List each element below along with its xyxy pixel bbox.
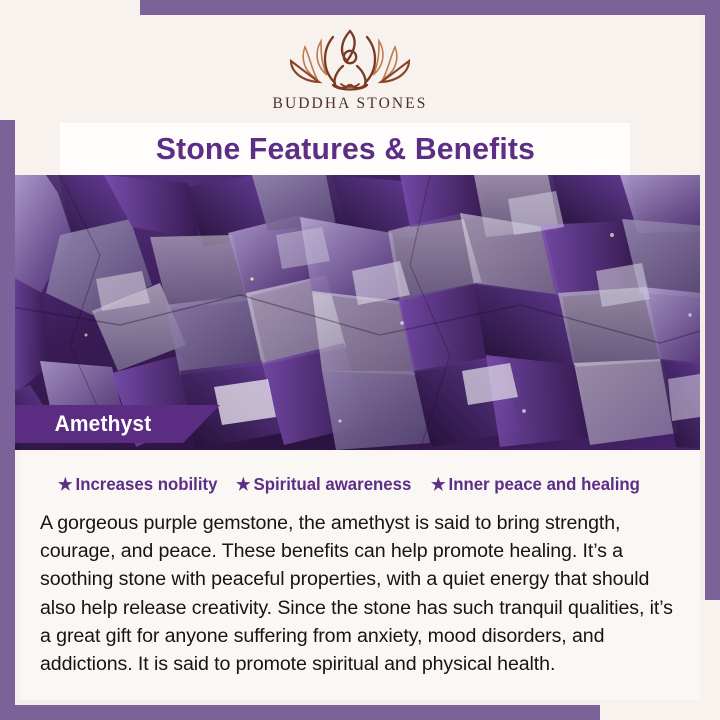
benefit-item-2: ★ Spiritual awareness	[236, 474, 411, 495]
benefit-label-2: Spiritual awareness	[254, 474, 412, 495]
frame-top-bar	[140, 0, 720, 15]
brand-name: BUDDHA STONES	[273, 95, 428, 113]
frame-bottom-bar	[0, 705, 600, 720]
benefit-label-1: Increases nobility	[76, 474, 218, 495]
section-title-bar: Stone Features & Benefits	[60, 123, 630, 175]
stone-details-panel: ★ Increases nobility ★ Spiritual awarene…	[20, 450, 700, 700]
frame-left-bar	[0, 120, 15, 720]
frame-inner-hairline-right	[700, 15, 705, 600]
page-title: Stone Features & Benefits	[155, 131, 534, 167]
benefits-list: ★ Increases nobility ★ Spiritual awarene…	[32, 464, 690, 499]
benefit-item-3: ★ Inner peace and healing	[431, 474, 640, 495]
star-icon: ★	[236, 476, 251, 493]
brand-header: BUDDHA STONES	[0, 15, 700, 123]
lotus-meditation-icon	[275, 27, 425, 93]
frame-right-bar	[705, 0, 720, 600]
star-icon: ★	[58, 476, 73, 493]
star-icon: ★	[431, 476, 446, 493]
stone-description: A gorgeous purple gemstone, the amethyst…	[32, 509, 690, 678]
frame-inner-hairline-bottom	[15, 700, 600, 705]
benefit-item-1: ★ Increases nobility	[58, 474, 217, 495]
stone-name-label: Amethyst	[18, 411, 151, 437]
stone-info-card: BUDDHA STONES Stone Features & Benefits …	[0, 0, 720, 720]
benefit-label-3: Inner peace and healing	[448, 474, 639, 495]
